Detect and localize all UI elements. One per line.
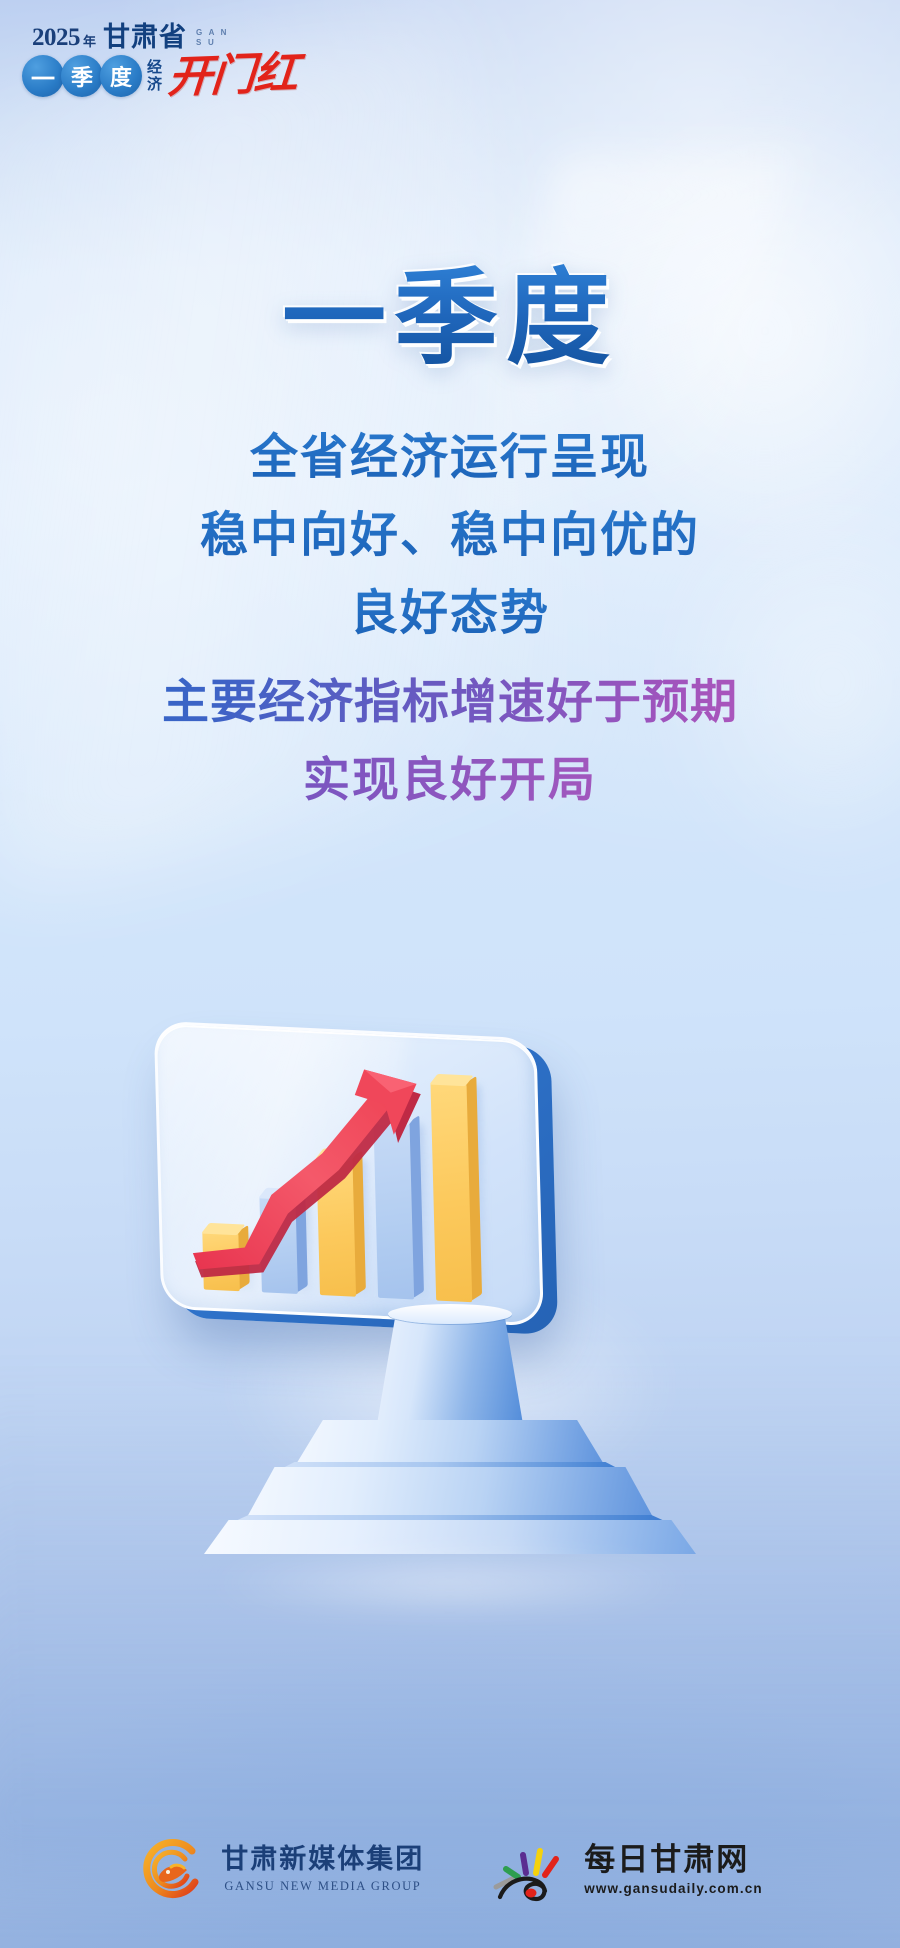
brand-disc-ji: 季 <box>61 55 103 97</box>
upward-trend-arrow-icon <box>183 1047 510 1312</box>
footer-logos: 甘肃新媒体集团 GANSU NEW MEDIA GROUP 每日甘肃网 www.… <box>0 1834 900 1906</box>
page-title: 一季度 <box>0 262 900 374</box>
pedestal-tier-2 <box>246 1467 654 1519</box>
subhead-line-5: 实现良好开局 <box>0 742 900 820</box>
pedestal-column <box>375 1312 525 1436</box>
gansu-new-media-group-en: GANSU NEW MEDIA GROUP <box>224 1879 421 1894</box>
brand-pinyin-line1: G A N <box>196 28 229 38</box>
brand-pinyin: G A N S U <box>196 28 229 48</box>
subhead-line-3: 良好态势 <box>0 574 900 652</box>
pedestal-floor-glow <box>100 1538 800 1628</box>
brand-lockup-row-bottom: 一 季 度 经 济 开门红 <box>22 54 297 98</box>
brand-year: 2025 <box>32 25 80 50</box>
brand-province: 甘肃省 <box>103 24 187 51</box>
logo-gansu-new-media-group[interactable]: 甘肃新媒体集团 GANSU NEW MEDIA GROUP <box>137 1834 424 1906</box>
chart-plaque-face <box>154 1021 544 1327</box>
subhead-line-4: 主要经济指标增速好于预期 <box>0 664 900 742</box>
logo-gansu-daily-net[interactable]: 每日甘肃网 www.gansudaily.com.cn <box>490 1835 762 1905</box>
subhead-line-1: 全省经济运行呈现 <box>0 418 900 496</box>
growth-chart-illustration <box>0 1030 900 1650</box>
gansu-new-media-group-text: 甘肃新媒体集团 GANSU NEW MEDIA GROUP <box>221 1846 424 1894</box>
brand-disc-du: 度 <box>100 55 142 97</box>
brand-lockup-row-top: 2025 年 甘肃省 G A N S U <box>32 24 229 50</box>
brand-economy-char-2: 济 <box>147 76 162 93</box>
gansu-daily-text: 每日甘肃网 www.gansudaily.com.cn <box>584 1844 762 1896</box>
brand-economy-char-1: 经 <box>147 59 162 76</box>
gansu-new-media-group-mark-icon <box>137 1834 209 1906</box>
pedestal-tier-1 <box>295 1420 605 1466</box>
gansu-new-media-group-cn: 甘肃新媒体集团 <box>221 1846 424 1874</box>
gansu-daily-cn: 每日甘肃网 <box>584 1844 762 1877</box>
subhead-line-2: 稳中向好、稳中向优的 <box>0 496 900 574</box>
poster-root: 2025 年 甘肃省 G A N S U 一 季 度 经 济 开门红 一季度 全… <box>0 0 900 1948</box>
brand-economy-label: 经 济 <box>147 59 162 93</box>
brand-year-suffix: 年 <box>83 35 96 48</box>
brand-lockup: 2025 年 甘肃省 G A N S U 一 季 度 经 济 开门红 <box>22 24 352 114</box>
subhead-block: 全省经济运行呈现 稳中向好、稳中向优的 良好态势 主要经济指标增速好于预期 实现… <box>0 418 900 820</box>
gansu-daily-mark-icon <box>490 1835 576 1905</box>
brand-disc-yi: 一 <box>22 55 64 97</box>
chart-plaque <box>154 1021 562 1340</box>
brand-pinyin-line2: S U <box>196 38 229 48</box>
pedestal <box>190 1312 710 1542</box>
gansu-daily-url: www.gansudaily.com.cn <box>584 1881 762 1896</box>
pedestal-column-top <box>388 1304 512 1324</box>
brand-red-calligraphy: 开门红 <box>166 52 298 100</box>
